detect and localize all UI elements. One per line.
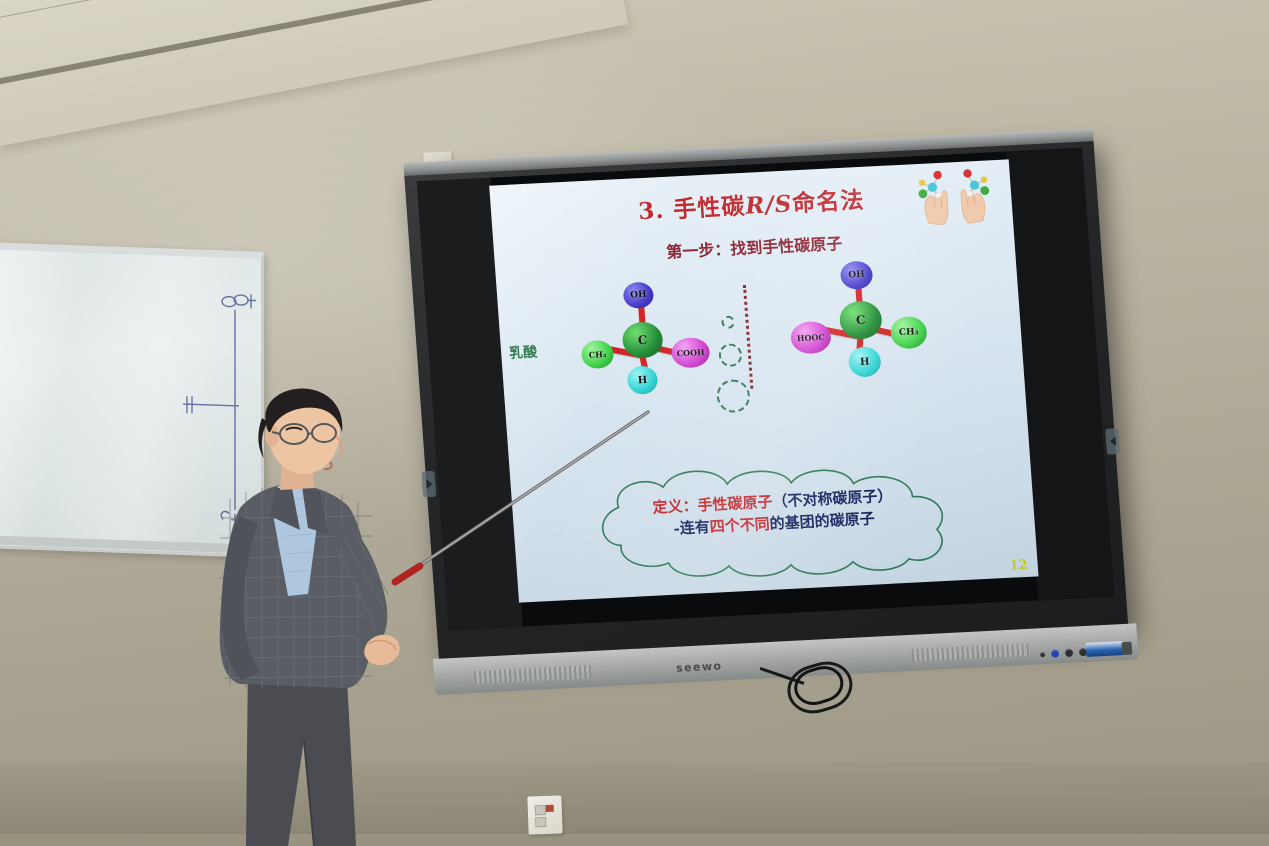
slide-title-part1: 手性碳: [672, 193, 746, 224]
atom-cooh-left: COOH: [671, 337, 711, 369]
data-jack-lower: [535, 817, 546, 827]
atom-ch3-right: CH₃: [890, 316, 928, 350]
atom-h-left: H: [627, 365, 659, 394]
hdmi-port-icon[interactable]: [1065, 649, 1074, 657]
slide-title-part2: 命名法: [791, 187, 865, 218]
display-label-sticker: [1085, 641, 1124, 657]
display-serial-sticker: [1121, 642, 1132, 655]
atom-h-right: H: [848, 346, 882, 378]
definition-line1-red: 定义：手性碳原子: [652, 493, 773, 517]
presenter-figure: [196, 388, 442, 846]
definition-line2-red: 四个不同: [709, 515, 770, 536]
definition-line2-prefix: -连有: [673, 518, 710, 538]
definition-line2-suffix: 的基团的碳原子: [769, 509, 875, 532]
mirror-circle-medium: [718, 343, 743, 367]
lactic-acid-label: 乳酸: [508, 341, 537, 362]
mirror-circle-small: [721, 315, 735, 329]
definition-cloud-callout: 定义：手性碳原子（不对称碳原子） -连有四个不同的基团的碳原子: [550, 451, 998, 589]
molecule-right-mirror-image: OH C HOOC CH₃ H: [784, 263, 942, 390]
display-screen[interactable]: 3. 手性碳R/S命名法 第一步：找到手性碳原子: [417, 148, 1114, 631]
power-indicator-icon: [1040, 652, 1045, 657]
atom-oh-right: OH: [840, 260, 874, 290]
molecule-left-lactic-acid: OH C CH₃ COOH H: [567, 282, 725, 409]
chiral-hands-icon: [909, 164, 999, 226]
atom-hooc-right: HOOC: [790, 321, 832, 355]
outlet-red-marker: [546, 805, 554, 812]
atom-oh-left: OH: [622, 282, 654, 309]
display-side-menu-button-right[interactable]: [1105, 428, 1120, 455]
mirror-circle-large: [716, 379, 751, 414]
slide-title-prefix: 3.: [637, 196, 674, 225]
slide-page-number: 12: [1009, 558, 1028, 574]
definition-line1-blue: （不对称碳原子）: [772, 487, 893, 511]
usb-port-icon[interactable]: [1051, 649, 1060, 657]
classroom-photo: 3. 手性碳R/S命名法 第一步：找到手性碳原子: [0, 0, 1269, 846]
atom-ch3-left: CH₃: [581, 340, 615, 370]
presentation-slide[interactable]: 3. 手性碳R/S命名法 第一步：找到手性碳原子: [489, 159, 1038, 602]
baseboard: [0, 834, 1269, 846]
display-brand-logo: seewo: [676, 659, 723, 674]
data-jack-upper: [535, 805, 546, 815]
mirror-plane-dotted-line: [743, 285, 753, 389]
interactive-flat-panel[interactable]: 3. 手性碳R/S命名法 第一步：找到手性碳原子: [404, 137, 1129, 665]
slide-title-italic-rs: R/S: [744, 190, 793, 219]
network-data-outlet[interactable]: [527, 795, 562, 834]
